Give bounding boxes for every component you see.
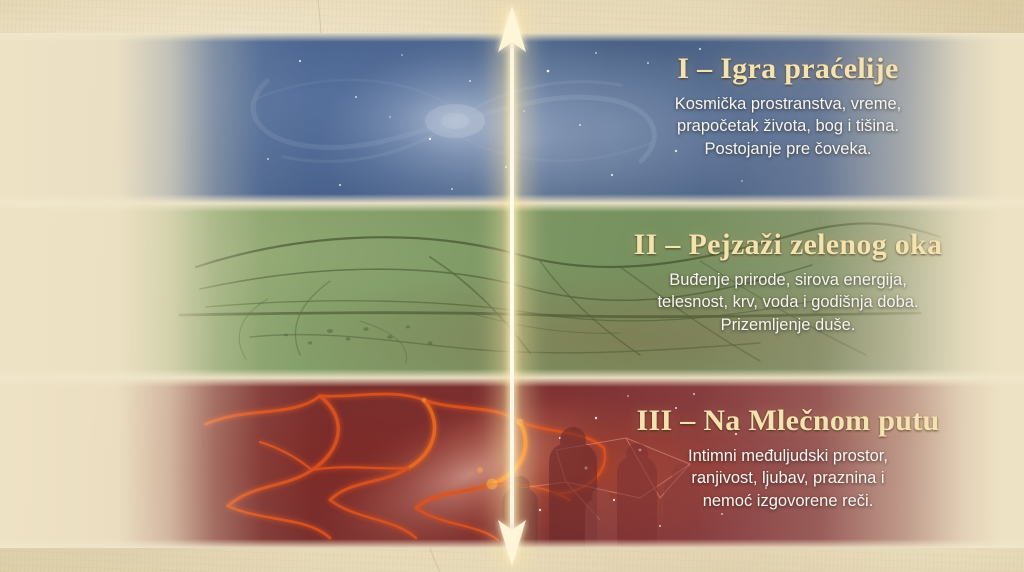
panel-cosmos[interactable]: [0, 33, 1024, 203]
panel-lava-milkyway[interactable]: [0, 378, 1024, 548]
human-silhouettes: [0, 378, 1024, 548]
spiral-galaxy-icon: [0, 33, 1024, 203]
triptych: [0, 33, 1024, 548]
poster-canvas: I – Igra praćelije Kosmička prostranstva…: [0, 0, 1024, 572]
branching-roots: [0, 203, 1024, 378]
panel-green-landscape[interactable]: [0, 203, 1024, 378]
